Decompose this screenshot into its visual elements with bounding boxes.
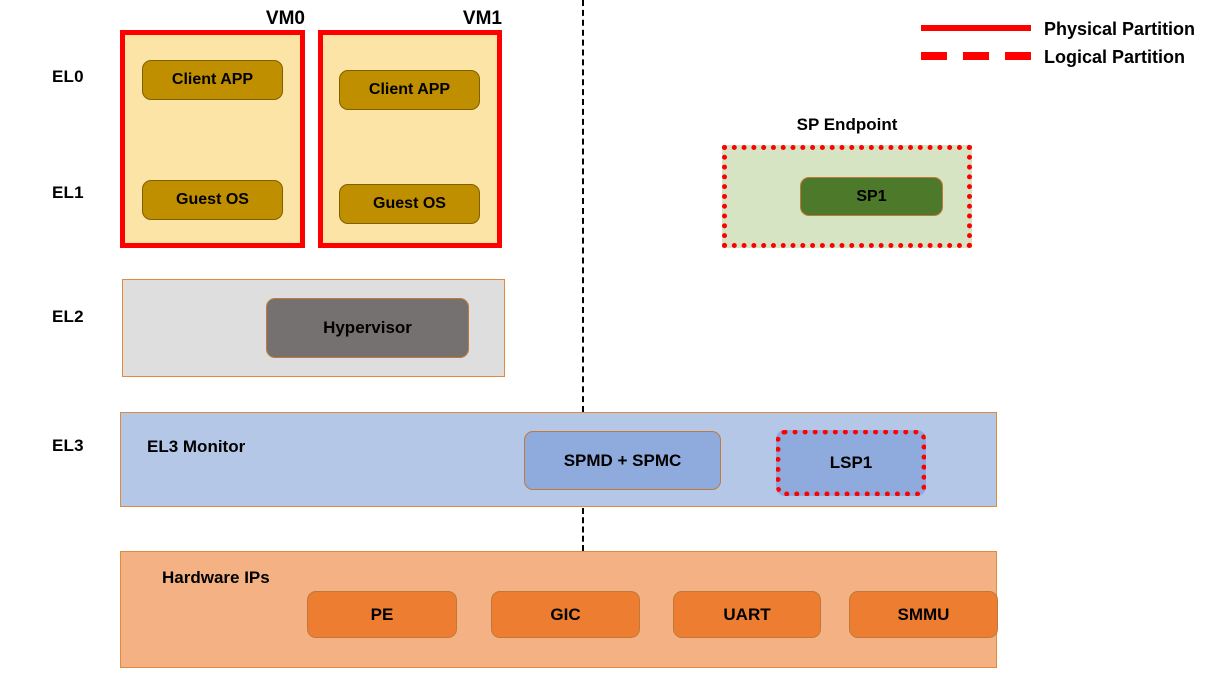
spmd-spmc-label: SPMD + SPMC: [564, 451, 682, 471]
legend-logical-partition-line: [921, 52, 1031, 60]
hypervisor-box[interactable]: Hypervisor: [266, 298, 469, 358]
pe-box[interactable]: PE: [307, 591, 457, 638]
vm0-guest-os-label: Guest OS: [176, 191, 249, 209]
vm0-physical-partition[interactable]: Client APP Guest OS: [120, 30, 305, 248]
legend-physical-partition-line: [921, 25, 1031, 31]
vm0-guest-os-box[interactable]: Guest OS: [142, 180, 283, 220]
vm1-guest-os-label: Guest OS: [373, 195, 446, 213]
vm1-label: VM1: [347, 8, 502, 30]
vm0-client-app-label: Client APP: [172, 71, 253, 89]
sp1-label: SP1: [856, 188, 886, 206]
sp-endpoint-logical-partition[interactable]: SP1: [722, 145, 972, 248]
legend: Physical Partition Logical Partition: [921, 14, 1211, 76]
el2-panel: Hypervisor: [122, 279, 505, 377]
exception-level-label-el1: EL1: [52, 183, 84, 203]
smmu-label: SMMU: [898, 605, 950, 625]
exception-level-label-el3: EL3: [52, 436, 84, 456]
vm1-physical-partition[interactable]: Client APP Guest OS: [318, 30, 502, 248]
legend-physical-partition-label: Physical Partition: [1044, 19, 1195, 40]
vm0-client-app-box[interactable]: Client APP: [142, 60, 283, 100]
architecture-diagram: Physical Partition Logical Partition EL0…: [0, 0, 1220, 696]
secure-nonsecure-divider-lower: [582, 508, 584, 551]
vm0-label: VM0: [150, 8, 305, 30]
legend-logical-partition-label: Logical Partition: [1044, 47, 1185, 68]
uart-box[interactable]: UART: [673, 591, 821, 638]
pe-label: PE: [371, 605, 394, 625]
vm1-client-app-label: Client APP: [369, 81, 450, 99]
hardware-ips-title: Hardware IPs: [162, 568, 270, 588]
hypervisor-label: Hypervisor: [323, 318, 412, 338]
exception-level-label-el2: EL2: [52, 307, 84, 327]
hardware-panel: Hardware IPs PE GIC UART SMMU: [120, 551, 997, 668]
vm1-client-app-box[interactable]: Client APP: [339, 70, 480, 110]
sp-endpoint-title: SP Endpoint: [722, 115, 972, 135]
gic-label: GIC: [550, 605, 580, 625]
spmd-spmc-box[interactable]: SPMD + SPMC: [524, 431, 721, 490]
exception-level-label-el0: EL0: [52, 67, 84, 87]
el3-panel: EL3 Monitor SPMD + SPMC LSP1: [120, 412, 997, 507]
vm1-guest-os-box[interactable]: Guest OS: [339, 184, 480, 224]
smmu-box[interactable]: SMMU: [849, 591, 998, 638]
gic-box[interactable]: GIC: [491, 591, 640, 638]
lsp1-box[interactable]: LSP1: [776, 430, 926, 496]
el3-monitor-title: EL3 Monitor: [147, 437, 245, 457]
uart-label: UART: [723, 605, 770, 625]
lsp1-label: LSP1: [830, 453, 873, 473]
sp1-box[interactable]: SP1: [800, 177, 943, 216]
secure-nonsecure-divider-upper: [582, 0, 584, 412]
